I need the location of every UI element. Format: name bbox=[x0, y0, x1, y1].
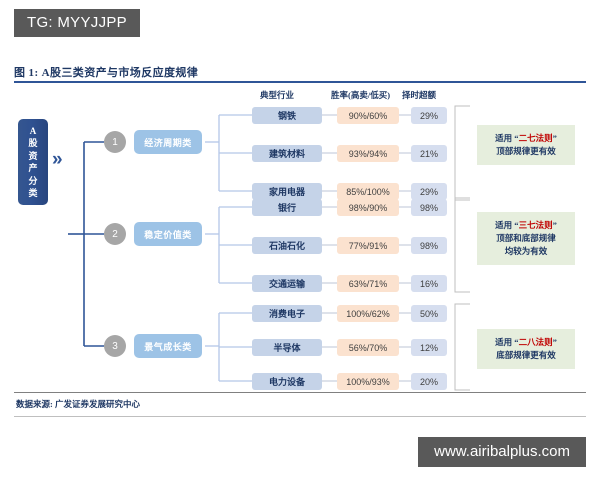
winrate-value: 100%/62% bbox=[337, 305, 399, 322]
winrate-value: 63%/71% bbox=[337, 275, 399, 292]
note-line: 适用 “三七法则” bbox=[481, 219, 571, 232]
rule-name: 二八法则 bbox=[519, 337, 553, 347]
excess-value: 20% bbox=[411, 373, 447, 390]
column-header-winrate: 胜率(高卖/低买) bbox=[331, 89, 390, 101]
rule-name: 二七法则 bbox=[519, 133, 553, 143]
excess-value: 29% bbox=[411, 107, 447, 124]
winrate-value: 100%/93% bbox=[337, 373, 399, 390]
root-node-label: A股资产分类 bbox=[27, 125, 39, 200]
industry-chip[interactable]: 银行 bbox=[252, 199, 322, 216]
group-number-badge-3: 3 bbox=[104, 335, 126, 357]
group-number-badge-1: 1 bbox=[104, 131, 126, 153]
winrate-value: 90%/60% bbox=[337, 107, 399, 124]
root-node-asset-classification[interactable]: A股资产分类 bbox=[18, 119, 48, 205]
site-watermark-badge: www.airibalplus.com bbox=[418, 437, 586, 467]
rule-name: 三七法则 bbox=[519, 220, 553, 230]
industry-chip[interactable]: 半导体 bbox=[252, 339, 322, 356]
winrate-value: 98%/90% bbox=[337, 199, 399, 216]
industry-chip[interactable]: 电力设备 bbox=[252, 373, 322, 390]
excess-value: 12% bbox=[411, 339, 447, 356]
note-box-rule-3: 适用 “二八法则” 底部规律更有效 bbox=[477, 329, 575, 369]
note-box-rule-1: 适用 “二七法则” 顶部规律更有效 bbox=[477, 125, 575, 165]
excess-value: 16% bbox=[411, 275, 447, 292]
excess-value: 50% bbox=[411, 305, 447, 322]
excess-value: 98% bbox=[411, 237, 447, 254]
winrate-value: 85%/100% bbox=[337, 183, 399, 200]
source-note: 数据来源: 广发证券发展研究中心 bbox=[16, 398, 140, 410]
note-line: 顶部和底部规律 bbox=[481, 232, 571, 245]
winrate-value: 93%/94% bbox=[337, 145, 399, 162]
industry-chip[interactable]: 消费电子 bbox=[252, 305, 322, 322]
column-header-industry: 典型行业 bbox=[260, 89, 294, 101]
figure-title: 图 1: A股三类资产与市场反应度规律 bbox=[14, 64, 198, 80]
note-line: 适用 “二七法则” bbox=[481, 132, 571, 145]
note-line: 均较为有效 bbox=[481, 245, 571, 258]
industry-chip[interactable]: 钢铁 bbox=[252, 107, 322, 124]
chevron-right-icon: » bbox=[52, 150, 63, 169]
tg-watermark-badge: TG: MYYJJPP bbox=[14, 9, 140, 37]
industry-chip[interactable]: 建筑材料 bbox=[252, 145, 322, 162]
note-box-rule-2: 适用 “三七法则” 顶部和底部规律 均较为有效 bbox=[477, 212, 575, 265]
group-chip-growth[interactable]: 景气成长类 bbox=[134, 334, 202, 358]
industry-chip[interactable]: 石油石化 bbox=[252, 237, 322, 254]
footer-divider-secondary bbox=[14, 416, 586, 417]
excess-value: 21% bbox=[411, 145, 447, 162]
note-line: 底部规律更有效 bbox=[481, 349, 571, 362]
winrate-value: 77%/91% bbox=[337, 237, 399, 254]
industry-chip[interactable]: 家用电器 bbox=[252, 183, 322, 200]
note-line: 顶部规律更有效 bbox=[481, 145, 571, 158]
title-divider bbox=[14, 81, 586, 83]
note-line: 适用 “二八法则” bbox=[481, 336, 571, 349]
winrate-value: 56%/70% bbox=[337, 339, 399, 356]
group-chip-economic-cycle[interactable]: 经济周期类 bbox=[134, 130, 202, 154]
group-number-badge-2: 2 bbox=[104, 223, 126, 245]
excess-value: 29% bbox=[411, 183, 447, 200]
footer-divider bbox=[14, 392, 586, 393]
group-chip-stable-value[interactable]: 稳定价值类 bbox=[134, 222, 202, 246]
column-header-excess: 择时超额 bbox=[402, 89, 436, 101]
excess-value: 98% bbox=[411, 199, 447, 216]
industry-chip[interactable]: 交通运输 bbox=[252, 275, 322, 292]
